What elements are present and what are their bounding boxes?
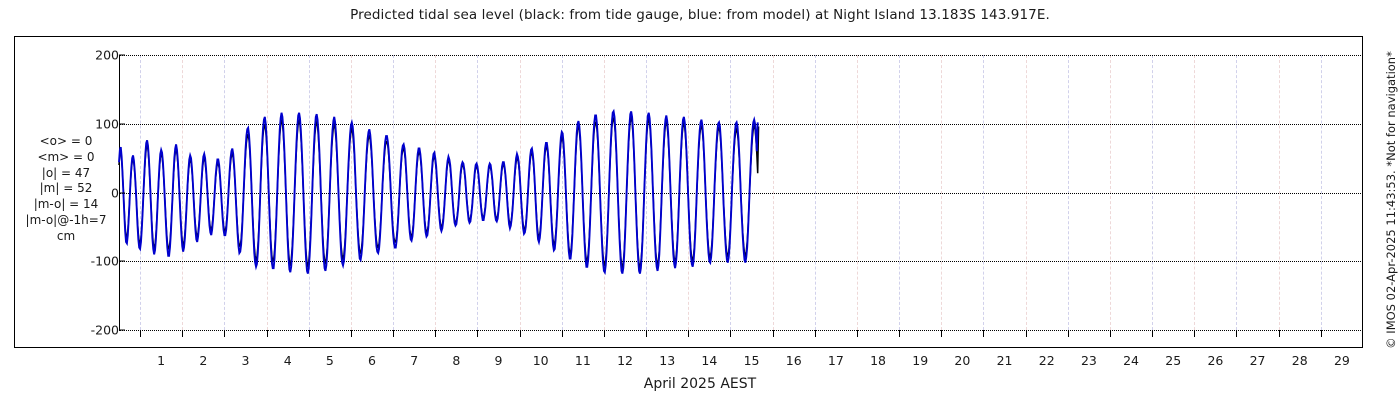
x-tick-label: 5: [326, 353, 334, 368]
x-tick-label: 25: [1165, 353, 1181, 368]
statistics-line: cm: [16, 229, 116, 245]
x-tick-mark: [351, 330, 352, 337]
y-tick-label: -100: [0, 254, 122, 269]
series-model-line: [119, 111, 758, 273]
chart-title: Predicted tidal sea level (black: from t…: [0, 7, 1400, 23]
x-tick-mark: [140, 330, 141, 337]
x-tick-label: 22: [1039, 353, 1055, 368]
statistics-line: <o> = 0: [16, 134, 116, 150]
y-tick-label: 200: [0, 48, 122, 63]
y-tick-label: 100: [0, 116, 122, 131]
x-tick-label: 3: [242, 353, 250, 368]
x-tick-mark: [182, 330, 183, 337]
x-tick-label: 20: [954, 353, 970, 368]
x-tick-mark: [267, 330, 268, 337]
tide-series-svg: [119, 55, 1363, 330]
x-tick-mark: [1194, 330, 1195, 337]
x-tick-label: 9: [495, 353, 503, 368]
x-axis-title: April 2025 AEST: [0, 376, 1400, 392]
x-tick-label: 19: [912, 353, 928, 368]
x-tick-label: 28: [1292, 353, 1308, 368]
x-tick-mark: [941, 330, 942, 337]
x-tick-mark: [1279, 330, 1280, 337]
x-tick-mark: [688, 330, 689, 337]
tidal-chart-figure: Predicted tidal sea level (black: from t…: [0, 0, 1400, 400]
x-tick-label: 23: [1081, 353, 1097, 368]
x-tick-mark: [646, 330, 647, 337]
x-tick-mark: [899, 330, 900, 337]
x-tick-label: 26: [1207, 353, 1223, 368]
statistics-line: |m-o|@-1h=7: [16, 213, 116, 229]
x-tick-label: 6: [368, 353, 376, 368]
x-tick-mark: [1321, 330, 1322, 337]
x-tick-mark: [604, 330, 605, 337]
x-tick-mark: [477, 330, 478, 337]
x-tick-label: 29: [1334, 353, 1350, 368]
x-tick-label: 24: [1123, 353, 1139, 368]
x-tick-label: 11: [575, 353, 591, 368]
x-tick-mark: [773, 330, 774, 337]
x-tick-mark: [1026, 330, 1027, 337]
x-tick-mark: [393, 330, 394, 337]
x-tick-label: 2: [199, 353, 207, 368]
x-tick-label: 16: [786, 353, 802, 368]
x-tick-mark: [224, 330, 225, 337]
statistics-line: <m> = 0: [16, 150, 116, 166]
copyright-text: © IMOS 02-Apr-2025 11:43:53. *Not for na…: [1384, 51, 1398, 349]
x-tick-mark: [815, 330, 816, 337]
x-tick-label: 7: [410, 353, 418, 368]
x-tick-mark: [309, 330, 310, 337]
x-tick-mark: [1068, 330, 1069, 337]
y-tick-label: -200: [0, 323, 122, 338]
x-tick-mark: [983, 330, 984, 337]
x-tick-label: 10: [533, 353, 549, 368]
x-tick-label: 4: [284, 353, 292, 368]
x-tick-label: 8: [452, 353, 460, 368]
x-tick-label: 14: [701, 353, 717, 368]
x-tick-mark: [1152, 330, 1153, 337]
x-tick-mark: [562, 330, 563, 337]
x-tick-label: 21: [997, 353, 1013, 368]
x-tick-mark: [435, 330, 436, 337]
x-tick-mark: [857, 330, 858, 337]
statistics-line: |o| = 47: [16, 166, 116, 182]
x-tick-label: 18: [870, 353, 886, 368]
x-tick-label: 13: [659, 353, 675, 368]
plot-area: [119, 55, 1363, 330]
y-tick-label: 0: [0, 185, 122, 200]
x-tick-label: 27: [1250, 353, 1266, 368]
gridline-horizontal: [119, 330, 1363, 331]
x-tick-label: 12: [617, 353, 633, 368]
x-tick-label: 1: [157, 353, 165, 368]
x-tick-mark: [1236, 330, 1237, 337]
x-tick-mark: [520, 330, 521, 337]
x-tick-mark: [1110, 330, 1111, 337]
x-tick-mark: [730, 330, 731, 337]
x-tick-label: 17: [828, 353, 844, 368]
copyright-notice: © IMOS 02-Apr-2025 11:43:53. *Not for na…: [1383, 0, 1399, 400]
x-tick-label: 15: [744, 353, 760, 368]
